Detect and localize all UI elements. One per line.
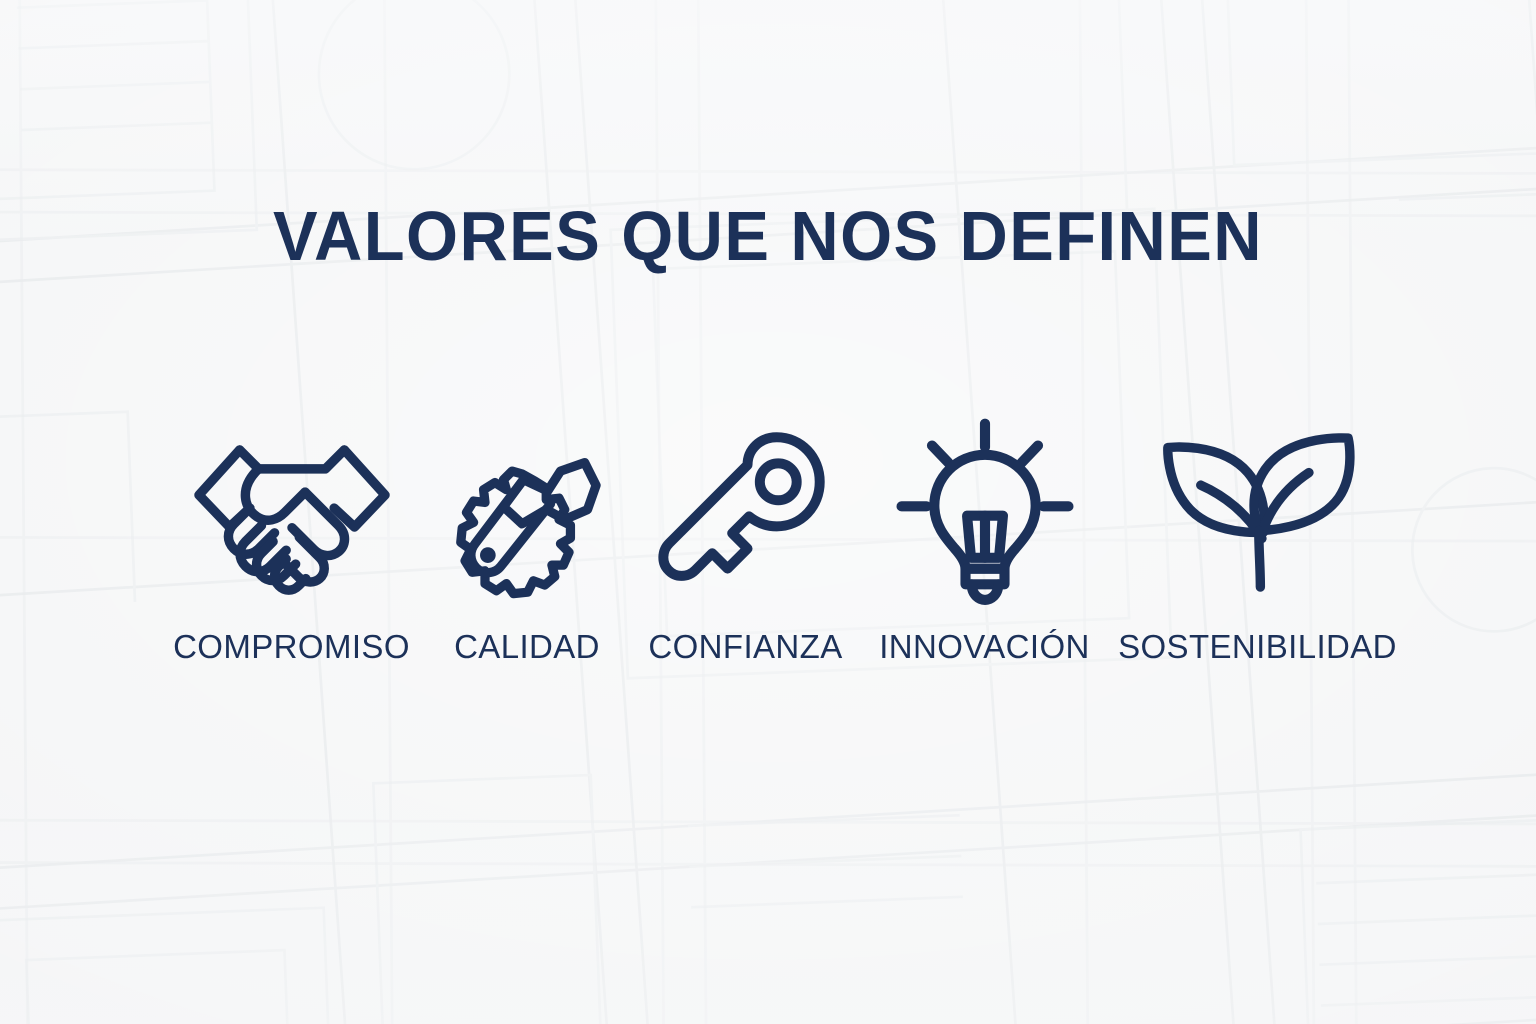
value-item-calidad[interactable]: CALIDAD [425,418,630,664]
value-label-confianza: CONFIANZA [648,630,842,664]
values-row: COMPROMISO CALIDAD [118,418,1448,664]
value-item-compromiso[interactable]: COMPROMISO [159,418,425,664]
plant-leaves-icon [1160,418,1356,604]
value-item-confianza[interactable]: CONFIANZA [630,418,862,664]
lightbulb-icon [895,418,1075,604]
value-label-sostenibilidad: SOSTENIBILIDAD [1118,630,1397,664]
value-item-sostenibilidad[interactable]: SOSTENIBILIDAD [1108,418,1408,664]
value-item-innovacion[interactable]: INNOVACIÓN [862,418,1108,664]
value-label-calidad: CALIDAD [454,630,600,664]
values-infographic-slide: VALORES QUE NOS DEFINEN [0,0,1536,1024]
key-icon [661,418,831,604]
wrench-gear-icon [438,418,616,604]
value-label-innovacion: INNOVACIÓN [879,630,1090,664]
page-title: VALORES QUE NOS DEFINEN [35,199,1502,273]
value-label-compromiso: COMPROMISO [173,630,410,664]
handshake-icon [183,418,401,604]
